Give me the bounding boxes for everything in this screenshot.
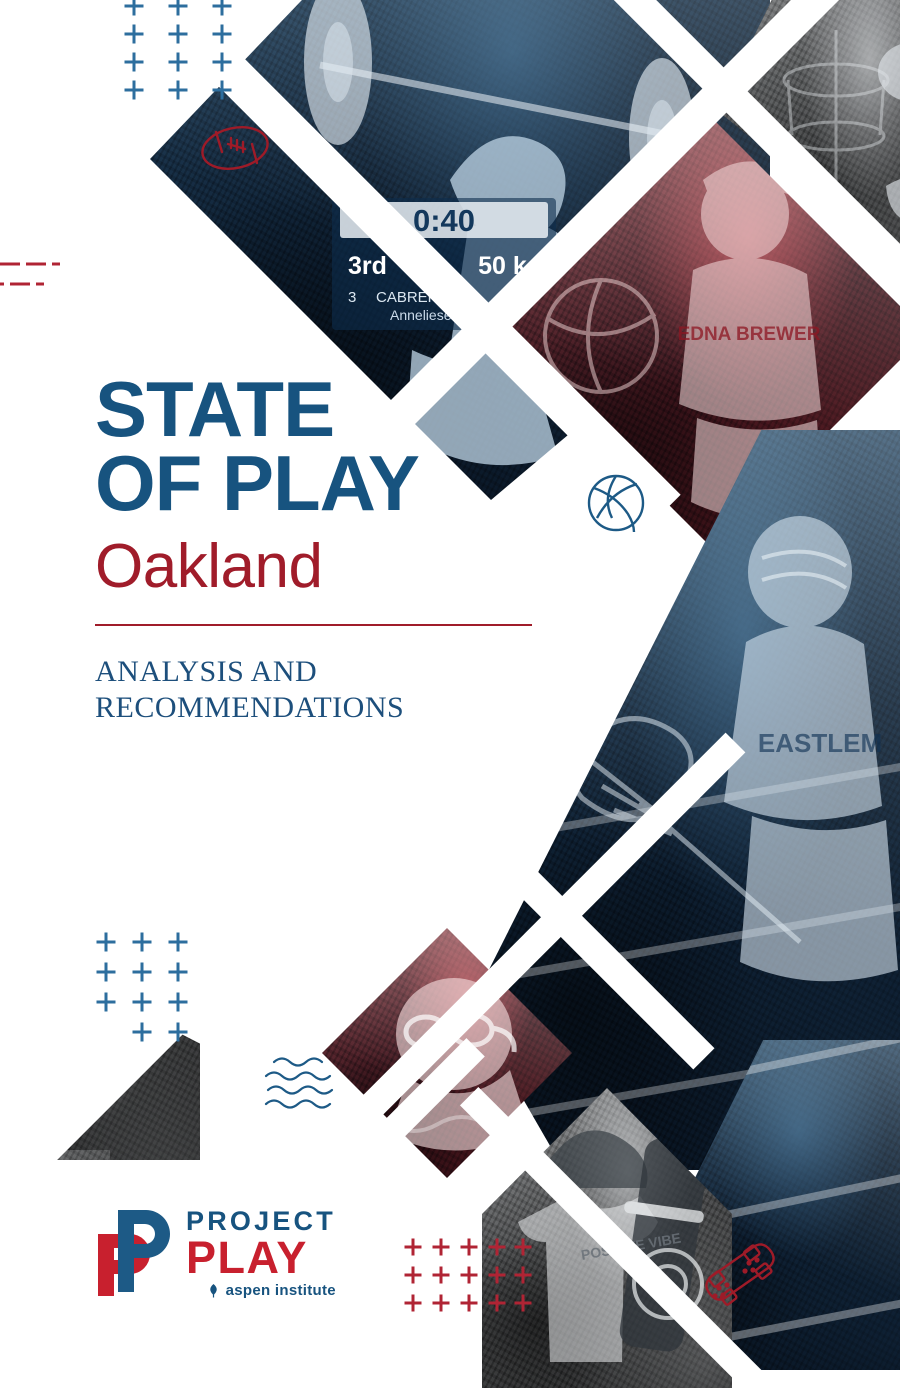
aspen-leaf-icon bbox=[206, 1283, 221, 1298]
subtitle-line-2: RECOMMENDATIONS bbox=[95, 690, 545, 725]
scoreboard-clock: 0:40 bbox=[413, 203, 475, 238]
aspen-institute-lockup: aspen institute bbox=[186, 1283, 336, 1298]
skateboard-icon bbox=[694, 1238, 786, 1312]
basketball-icon bbox=[585, 472, 647, 534]
plus-grid-bottom-left-icon bbox=[92, 928, 202, 1048]
subtitle-line-1: ANALYSIS AND bbox=[95, 654, 545, 689]
logo-word-play: PLAY bbox=[186, 1237, 336, 1278]
page-title: STATE OF PLAY bbox=[95, 372, 545, 520]
project-play-logo: PROJECT PLAY aspen institute bbox=[96, 1208, 336, 1298]
aspen-institute-text: aspen institute bbox=[226, 1283, 336, 1298]
project-play-mark-icon bbox=[96, 1208, 172, 1298]
scoreboard-lot: 3 bbox=[348, 289, 356, 306]
plus-grid-top-left-icon bbox=[120, 0, 260, 102]
lacrosse-jersey-text: EASTLEM bbox=[758, 728, 882, 758]
logo-wordmark: PROJECT PLAY aspen institute bbox=[186, 1208, 336, 1298]
waves-icon bbox=[262, 1052, 344, 1110]
title-line-1: STATE bbox=[95, 372, 545, 446]
subtitle: ANALYSIS AND RECOMMENDATIONS bbox=[95, 654, 545, 725]
title-block: STATE OF PLAY Oakland ANALYSIS AND RECOM… bbox=[95, 372, 545, 725]
title-divider-rule bbox=[95, 624, 532, 626]
city-name: Oakland bbox=[95, 536, 545, 598]
logo-word-project: PROJECT bbox=[186, 1208, 336, 1235]
football-icon bbox=[198, 120, 272, 176]
title-line-2: OF PLAY bbox=[95, 446, 545, 520]
dashed-lines-left-icon bbox=[0, 258, 84, 298]
report-cover: 0:40 3rd 50 kg 3 CABRERA Anneliese ROGUE bbox=[0, 0, 900, 1400]
scoreboard-attempt: 3rd bbox=[348, 252, 387, 280]
plus-grid-bottom-center-icon bbox=[400, 1233, 532, 1317]
basketball-jersey-text: EDNA BREWER bbox=[678, 324, 821, 345]
